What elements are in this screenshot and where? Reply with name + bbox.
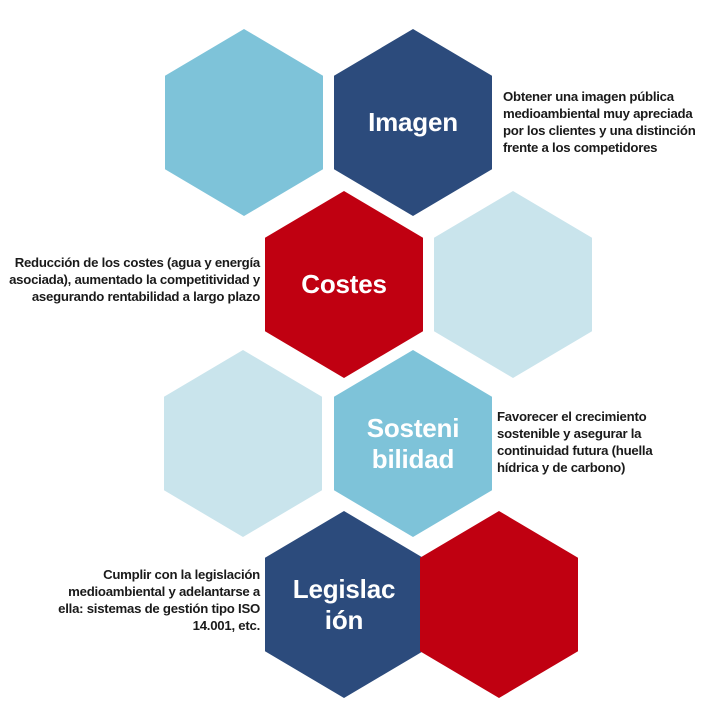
- callout-sostenibilidad: Favorecer el crecimiento sostenible y as…: [497, 408, 689, 476]
- hexagon-legislacion[interactable]: Legislación: [265, 511, 423, 698]
- hexagon-decorative-bottom-left: [164, 350, 322, 537]
- hexagon-label-sostenibilidad: Sostenibilidad: [359, 413, 467, 474]
- hexagon-imagen[interactable]: Imagen: [334, 29, 492, 216]
- hexagon-sostenibilidad[interactable]: Sostenibilidad: [334, 350, 492, 537]
- callout-legislacion: Cumplir con la legislación medioambienta…: [45, 566, 260, 634]
- hexagon-decorative-top-left: [165, 29, 323, 216]
- hexagon-benefits-diagram: Imagen Obtener una imagen pública medioa…: [0, 0, 720, 720]
- callout-costes: Reducción de los costes (agua y energía …: [8, 254, 260, 305]
- hexagon-label-legislacion: Legislación: [290, 574, 398, 635]
- hexagon-decorative-mid-right: [434, 191, 592, 378]
- hexagon-label-costes: Costes: [279, 269, 409, 300]
- hexagon-label-imagen: Imagen: [348, 107, 478, 138]
- hexagon-decorative-bottom-right: [420, 511, 578, 698]
- hexagon-costes[interactable]: Costes: [265, 191, 423, 378]
- callout-imagen: Obtener una imagen pública medioambienta…: [503, 88, 708, 156]
